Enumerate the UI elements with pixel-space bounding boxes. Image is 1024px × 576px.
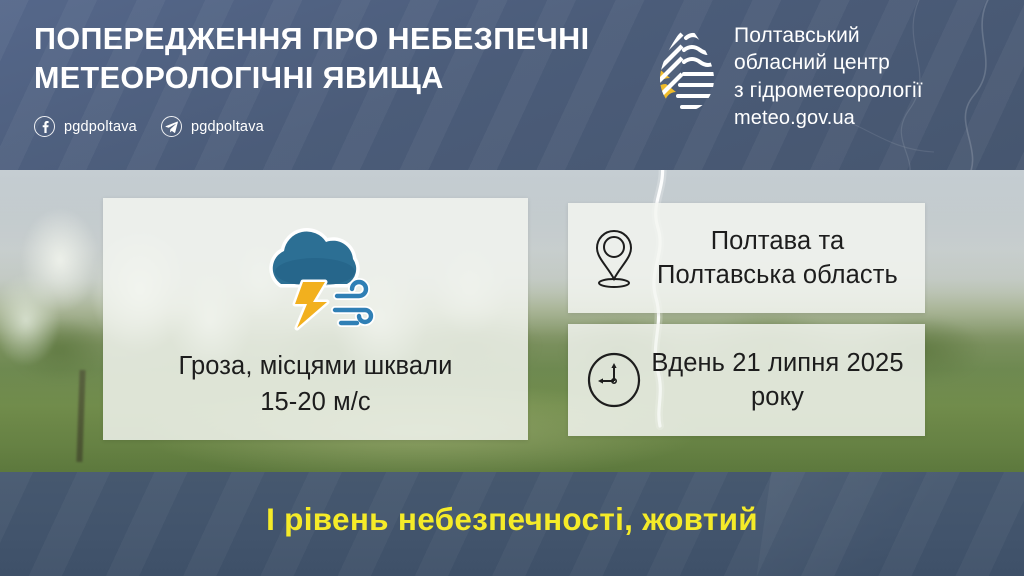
org-line-3: з гідрометеорології — [734, 79, 923, 102]
page-title-line-1: ПОПЕРЕДЖЕННЯ ПРО НЕБЕЗПЕЧНІ — [34, 22, 589, 56]
social-links: pgdpoltava pgdpoltava — [34, 116, 264, 137]
page-title-line-2: МЕТЕОРОЛОГІЧНІ ЯВИЩА — [34, 59, 654, 98]
date-line-2: року — [751, 383, 804, 411]
org-line-2: обласний центр — [734, 51, 890, 74]
org-website: meteo.gov.ua — [734, 105, 923, 131]
thunderstorm-wind-icon — [241, 222, 391, 332]
date-line-1: Вдень 21 липня 2025 — [651, 349, 903, 377]
telegram-handle: pgdpoltava — [191, 119, 264, 135]
facebook-handle: pgdpoltava — [64, 119, 137, 135]
date-card: Вдень 21 липня 2025 року — [568, 324, 925, 436]
warning-level-text: І рівень небезпечності, жовтий — [0, 501, 1024, 538]
phenomenon-line-1: Гроза, місцями шквали — [179, 352, 453, 380]
phenomenon-card: Гроза, місцями шквали 15-20 м/с — [103, 198, 528, 440]
organization-logo-block: Полтавський обласний центр з гідрометеор… — [656, 22, 923, 131]
infographic-root: ПОПЕРЕДЖЕННЯ ПРО НЕБЕЗПЕЧНІ МЕТЕОРОЛОГІЧ… — [0, 0, 1024, 576]
organization-name: Полтавський обласний центр з гідрометеор… — [734, 22, 923, 131]
social-link-telegram[interactable]: pgdpoltava — [161, 116, 264, 137]
org-line-1: Полтавський — [734, 24, 860, 47]
phenomenon-line-2: 15-20 м/с — [260, 388, 371, 416]
page-title: ПОПЕРЕДЖЕННЯ ПРО НЕБЕЗПЕЧНІ МЕТЕОРОЛОГІЧ… — [34, 20, 654, 98]
social-link-facebook[interactable]: pgdpoltava — [34, 116, 137, 137]
telegram-icon — [161, 116, 182, 137]
region-text: Полтава та Полтавська область — [646, 224, 915, 292]
region-line-1: Полтава та — [711, 227, 845, 255]
clock-icon — [582, 351, 646, 409]
water-droplet-logo — [656, 22, 718, 114]
header-banner: ПОПЕРЕДЖЕННЯ ПРО НЕБЕЗПЕЧНІ МЕТЕОРОЛОГІЧ… — [0, 0, 1024, 170]
region-line-2: Полтавська область — [657, 261, 898, 289]
footer-banner: І рівень небезпечності, жовтий — [0, 472, 1024, 576]
phenomenon-text: Гроза, місцями шквали 15-20 м/с — [103, 348, 528, 420]
facebook-icon — [34, 116, 55, 137]
location-pin-icon — [582, 227, 646, 289]
date-text: Вдень 21 липня 2025 року — [646, 346, 915, 414]
region-card: Полтава та Полтавська область — [568, 203, 925, 313]
